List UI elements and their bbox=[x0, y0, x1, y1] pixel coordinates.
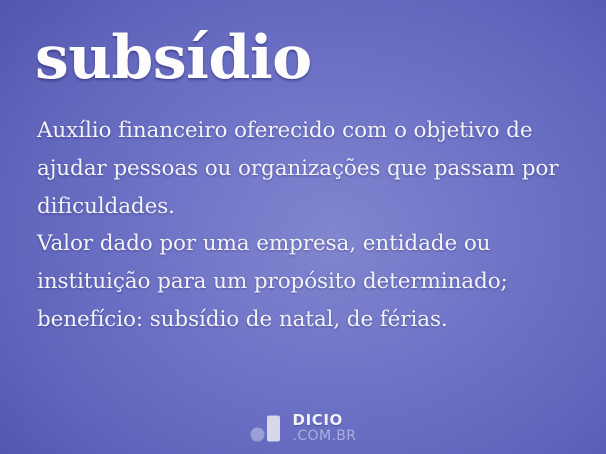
definition-card: subsídio Auxílio financeiro oferecido co… bbox=[0, 0, 606, 454]
definition-item: Valor dado por uma empresa, entidade ou … bbox=[37, 225, 577, 338]
dicio-mark-icon bbox=[250, 415, 284, 442]
definition-list: Auxílio financeiro oferecido com o objet… bbox=[37, 112, 577, 339]
card-content: subsídio Auxílio financeiro oferecido co… bbox=[0, 0, 606, 454]
definition-item: Auxílio financeiro oferecido com o objet… bbox=[37, 112, 577, 225]
logo-tld: .COM.BR bbox=[293, 429, 357, 443]
logo-name: DICIO bbox=[293, 413, 357, 428]
page-title: subsídio bbox=[35, 21, 312, 95]
logo-wordmark: DICIO .COM.BR bbox=[293, 413, 357, 443]
site-logo[interactable]: DICIO .COM.BR bbox=[0, 413, 606, 443]
